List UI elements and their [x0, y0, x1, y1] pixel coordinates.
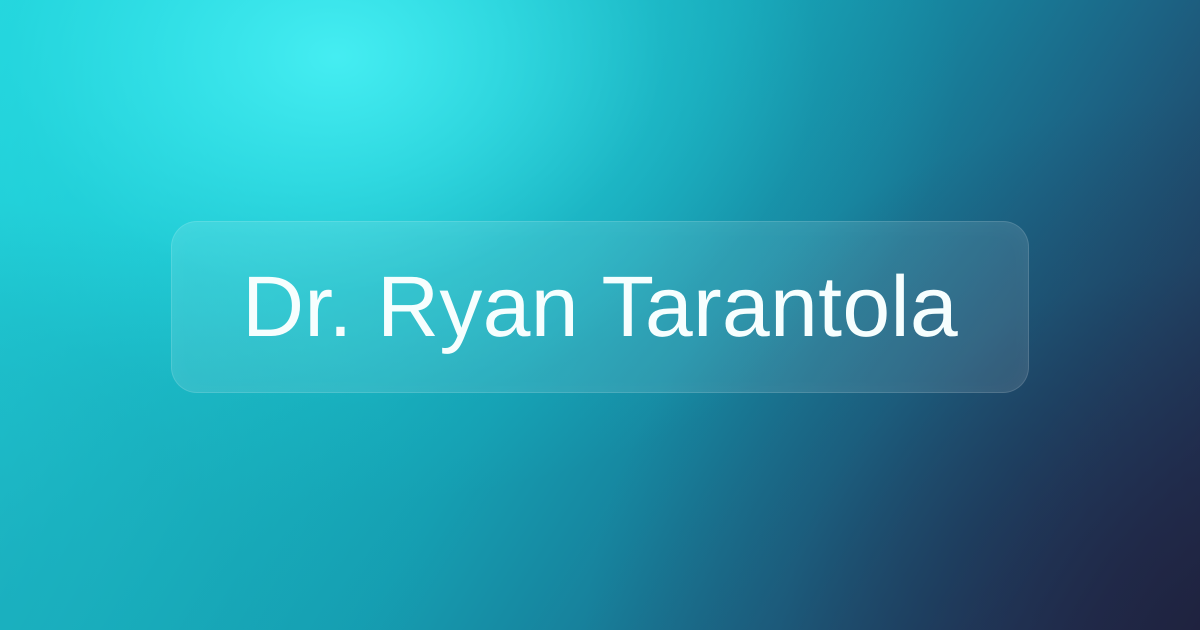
title-glass-panel: Dr. Ryan Tarantola	[171, 221, 1029, 393]
card-center-wrapper: Dr. Ryan Tarantola	[0, 0, 1200, 630]
og-share-card: Dr. Ryan Tarantola	[0, 0, 1200, 630]
page-title: Dr. Ryan Tarantola	[242, 264, 958, 350]
